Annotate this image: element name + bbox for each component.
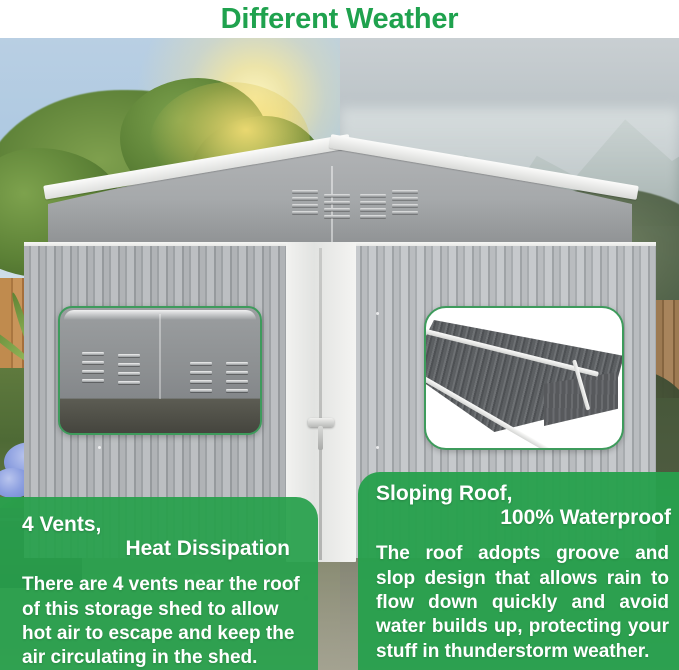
gable-vent xyxy=(392,190,418,224)
door-latch[interactable] xyxy=(318,426,323,450)
callout-roof-heading-line1: Sloping Roof, xyxy=(376,482,673,506)
callout-vents-heading-line2: Heat Dissipation xyxy=(22,537,292,561)
vent-closeup-inset xyxy=(58,306,262,435)
title-bar: Different Weather xyxy=(0,0,679,38)
callout-vents-heading: 4 Vents, Heat Dissipation xyxy=(0,497,318,561)
callout-roof-heading: Sloping Roof, 100% Waterproof xyxy=(358,472,679,530)
callout-vents-heading-line1: 4 Vents, xyxy=(22,513,292,537)
gable-vent xyxy=(360,194,386,228)
product-feature-image: Different Weather xyxy=(0,0,679,670)
door-seam xyxy=(319,248,322,560)
callout-roof-body: The roof adopts groove and slop design t… xyxy=(358,530,679,664)
roof-closeup-inset xyxy=(424,306,624,450)
callout-vents: 4 Vents, Heat Dissipation There are 4 ve… xyxy=(0,497,318,670)
callout-roof-heading-line2: 100% Waterproof xyxy=(376,506,673,530)
scene-photo: 4 Vents, Heat Dissipation There are 4 ve… xyxy=(0,38,679,670)
callout-roof: Sloping Roof, 100% Waterproof The roof a… xyxy=(358,472,679,670)
callout-vents-body: There are 4 vents near the roof of this … xyxy=(0,561,318,670)
page-title: Different Weather xyxy=(221,5,459,34)
panel-seam xyxy=(159,314,161,406)
gable-vent xyxy=(324,194,350,228)
inset-shadow-base xyxy=(60,399,260,433)
gable-vent xyxy=(292,190,318,224)
